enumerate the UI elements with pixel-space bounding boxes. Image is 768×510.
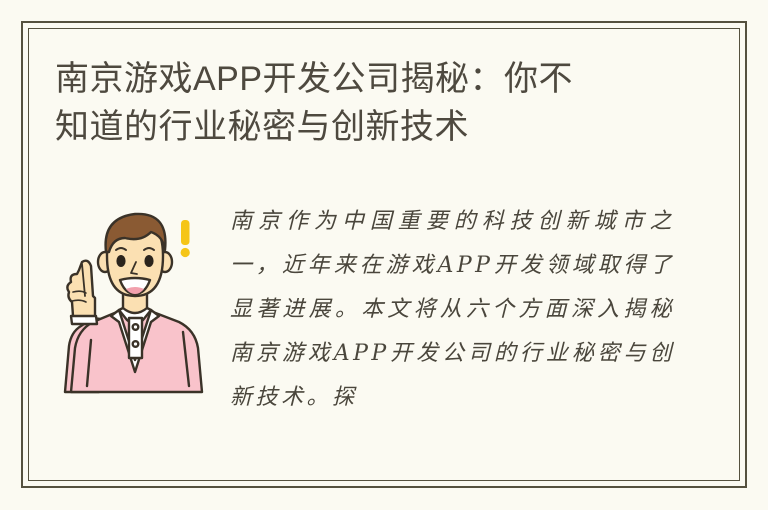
title-line-1: 南京游戏APP开发公司揭秘：你不: [55, 55, 675, 103]
article-body-row: 南京作为中国重要的科技创新城市之一，近年来在游戏APP开发领域取得了显著进展。本…: [55, 200, 675, 450]
article-body-column: 南京作为中国重要的科技创新城市之一，近年来在游戏APP开发领域取得了显著进展。本…: [230, 200, 675, 452]
title-line-2: 知道的行业秘密与创新技术: [55, 103, 675, 151]
shirt-button-top: [133, 324, 139, 330]
shirt-button-bottom: [133, 341, 139, 347]
pointing-man-illustration: [55, 200, 215, 400]
exclamation-icon: [181, 220, 190, 257]
sleeve-cuff: [71, 316, 97, 324]
article-paragraph: 南京作为中国重要的科技创新城市之一，近年来在游戏APP开发领域取得了显著进展。本…: [230, 200, 675, 420]
page-title: 南京游戏APP开发公司揭秘：你不 知道的行业秘密与创新技术: [55, 55, 675, 151]
right-eye: [144, 255, 153, 267]
article-card: 南京游戏APP开发公司揭秘：你不 知道的行业秘密与创新技术: [0, 0, 768, 510]
left-eye: [116, 255, 125, 267]
